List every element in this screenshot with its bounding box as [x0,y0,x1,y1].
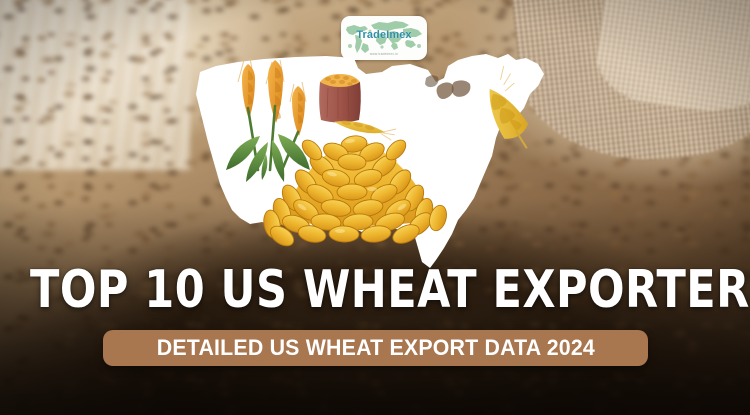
wheat-exporters-banner: TradeImex www.tradeimex.in [0,0,750,415]
us-map-illustration [186,52,566,270]
subtitle-banner: DETAILED US WHEAT EXPORT DATA 2024 [103,330,648,366]
page-title: TOP 10 US WHEAT EXPORTERS [30,264,720,316]
subtitle-text: DETAILED US WHEAT EXPORT DATA 2024 [156,335,594,361]
logo-wordmark: TradeImex [341,29,427,41]
